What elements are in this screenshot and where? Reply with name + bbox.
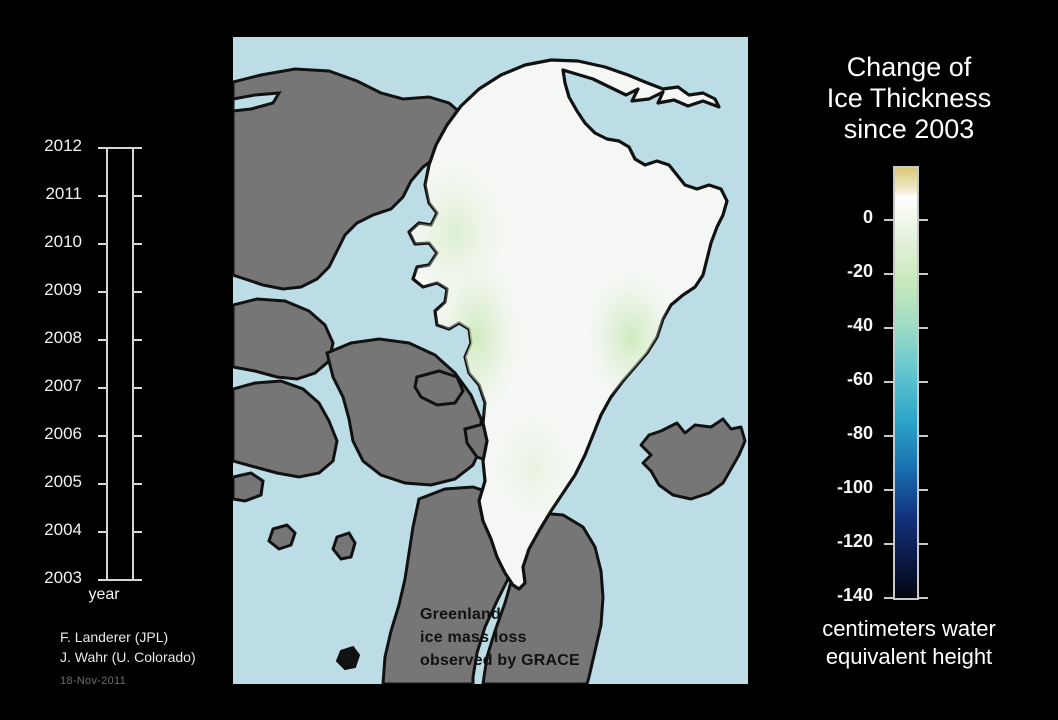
colorbar-tick-mark-left — [884, 327, 894, 329]
year-tick-label: 2010 — [44, 232, 82, 252]
colorbar-tick-mark-left — [884, 273, 894, 275]
year-timeline-axis: 2012 2011 2010 2009 2008 2007 2006 2005 — [0, 0, 230, 720]
colorbar-tick-label: -40 — [847, 315, 873, 336]
credit-author-1: F. Landerer (JPL) — [60, 627, 196, 647]
year-tick-label: 2009 — [44, 280, 82, 300]
year-tick-mark-right — [133, 435, 142, 437]
colorbar-tick-mark-left — [884, 219, 894, 221]
year-tick-mark-left — [98, 435, 107, 437]
colorbar-tick-mark-left — [884, 543, 894, 545]
colorbar-tick-mark-right — [918, 273, 928, 275]
map-caption-line-3: observed by GRACE — [420, 649, 580, 672]
legend-title-line-1: Change of — [760, 52, 1058, 83]
year-tick-mark-right — [133, 483, 142, 485]
year-tick-label: 2007 — [44, 376, 82, 396]
colorbar-tick-label: -60 — [847, 369, 873, 390]
year-tick-mark-left — [98, 387, 107, 389]
greenland-map-graphic — [233, 37, 748, 684]
colorbar-tick-label: 0 — [863, 207, 873, 228]
colorbar-gradient — [895, 168, 917, 598]
map-caption-line-2: ice mass loss — [420, 626, 580, 649]
year-tick-mark-left — [98, 483, 107, 485]
year-tick-mark-left — [98, 579, 107, 581]
colorbar-tick-label: -140 — [837, 585, 873, 606]
year-tick-mark-right — [133, 195, 142, 197]
colorbar-tick-mark-left — [884, 381, 894, 383]
legend-column: Change of Ice Thickness since 2003 0 -20… — [760, 0, 1058, 720]
year-axis-caption: year — [0, 586, 230, 604]
tiny-island-mid — [333, 533, 355, 559]
year-tick-mark-right — [133, 243, 142, 245]
year-tick-mark-left — [98, 291, 107, 293]
year-tick-label: 2004 — [44, 520, 82, 540]
colorbar-tick-mark-right — [918, 327, 928, 329]
year-tick-mark-right — [133, 579, 142, 581]
year-tick-mark-right — [133, 339, 142, 341]
year-tick-mark-right — [133, 387, 142, 389]
tiny-island-west — [269, 525, 295, 549]
colorbar-tick-label: -20 — [847, 261, 873, 282]
colorbar-tick-mark-right — [918, 219, 928, 221]
colorbar-tick-mark-right — [918, 543, 928, 545]
legend-units-line-2: equivalent height — [760, 643, 1058, 671]
greenland-map-panel: Greenland ice mass loss observed by GRAC… — [233, 37, 748, 684]
colorbar-tick-mark-left — [884, 435, 894, 437]
colorbar-tick-mark-left — [884, 597, 894, 599]
colorbar-tick-mark-right — [918, 597, 928, 599]
map-caption-block: Greenland ice mass loss observed by GRAC… — [420, 603, 580, 673]
year-tick-mark-right — [133, 147, 142, 149]
year-tick-mark-left — [98, 339, 107, 341]
year-tick-label: 2012 — [44, 136, 82, 156]
colorbar-tick-label: -100 — [837, 477, 873, 498]
west-edge-island — [233, 473, 263, 501]
legend-units-line-1: centimeters water — [760, 615, 1058, 643]
map-caption-line-1: Greenland — [420, 603, 580, 626]
legend-title-line-3: since 2003 — [760, 114, 1058, 145]
year-tick-label: 2003 — [44, 568, 82, 588]
colorbar-tick-mark-right — [918, 435, 928, 437]
year-tick-mark-left — [98, 147, 107, 149]
colorbar[interactable] — [893, 166, 919, 600]
year-tick-mark-left — [98, 243, 107, 245]
colorbar-tick-label: -80 — [847, 423, 873, 444]
tiny-island-south — [337, 647, 359, 669]
colorbar-tick-mark-right — [918, 489, 928, 491]
legend-title-line-2: Ice Thickness — [760, 83, 1058, 114]
legend-units-caption: centimeters water equivalent height — [760, 615, 1058, 670]
colorbar-tick-mark-right — [918, 381, 928, 383]
credits-block: F. Landerer (JPL) J. Wahr (U. Colorado) … — [60, 627, 196, 690]
year-timeline-bar[interactable] — [106, 147, 134, 581]
year-tick-mark-left — [98, 195, 107, 197]
year-tick-label: 2008 — [44, 328, 82, 348]
year-tick-mark-right — [133, 291, 142, 293]
year-tick-mark-right — [133, 531, 142, 533]
year-tick-mark-left — [98, 531, 107, 533]
legend-title: Change of Ice Thickness since 2003 — [760, 52, 1058, 145]
year-tick-label: 2006 — [44, 424, 82, 444]
credit-date: 18-Nov-2011 — [60, 674, 196, 690]
colorbar-tick-mark-left — [884, 489, 894, 491]
year-tick-label: 2005 — [44, 472, 82, 492]
year-tick-label: 2011 — [45, 184, 82, 204]
colorbar-tick-label: -120 — [837, 531, 873, 552]
credit-author-2: J. Wahr (U. Colorado) — [60, 647, 196, 667]
